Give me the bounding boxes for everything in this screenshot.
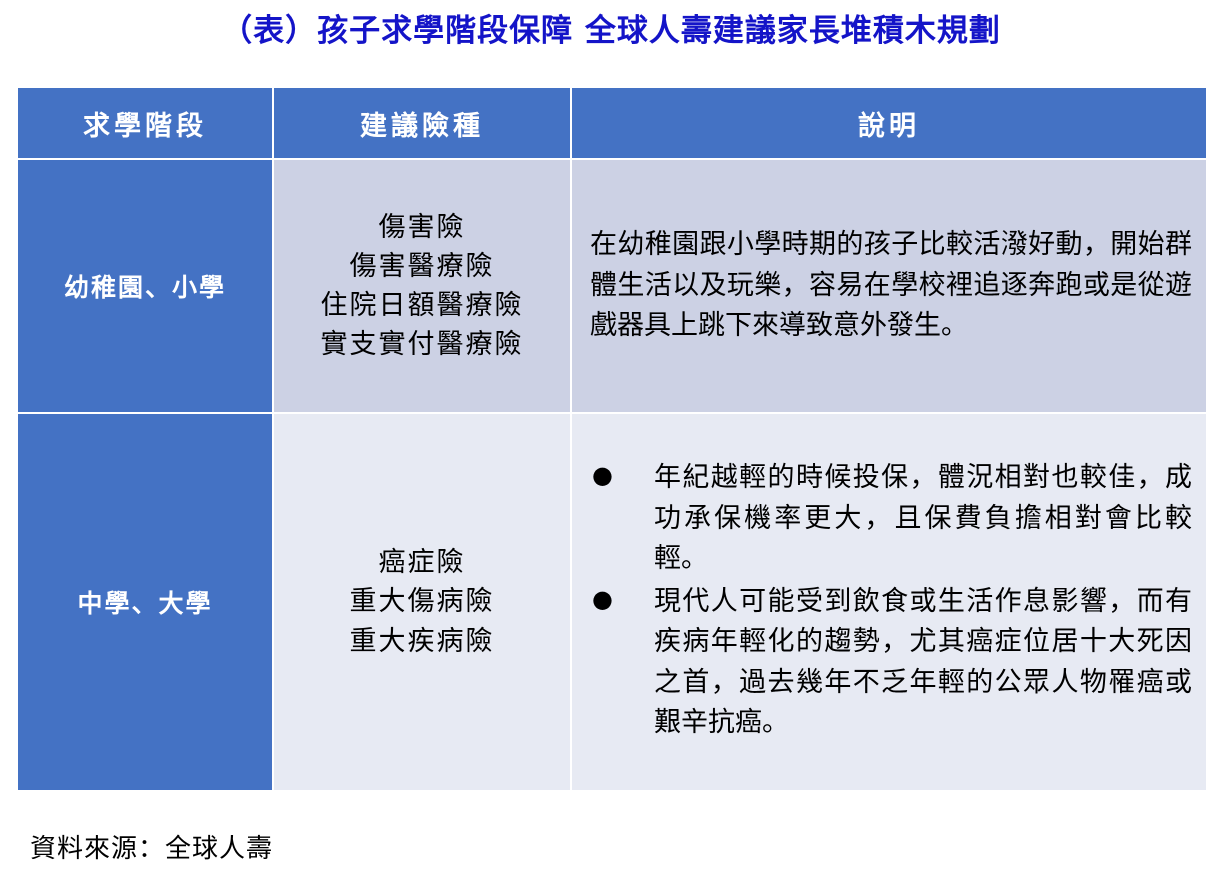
insurance-type-item: 實支實付醫療險	[274, 325, 570, 364]
bullet-icon: ●	[592, 581, 613, 617]
table-row: 幼稚園、小學 傷害險 傷害醫療險 住院日額醫療險 實支實付醫療險 在幼稚園跟小學…	[18, 160, 1206, 412]
table-header-row: 求學階段 建議險種 說明	[18, 88, 1206, 158]
description-paragraph: 在幼稚園跟小學時期的孩子比較活潑好動，開始群體生活以及玩樂，容易在學校裡追逐奔跑…	[590, 225, 1192, 347]
column-header-stage: 求學階段	[18, 88, 272, 158]
insurance-type-item: 傷害醫療險	[274, 247, 570, 286]
list-item-text: 年紀越輕的時候投保，體況相對也較佳，成功承保機率更大，且保費負擔相對會比較輕。	[654, 462, 1192, 574]
insurance-type-item: 重大疾病險	[274, 622, 570, 661]
insurance-type-item: 傷害險	[274, 208, 570, 247]
page-title: （表）孩子求學階段保障 全球人壽建議家長堆積木規劃	[0, 12, 1222, 51]
description-bullet-list: ● 年紀越輕的時候投保，體況相對也較佳，成功承保機率更大，且保費負擔相對會比較輕…	[590, 458, 1192, 744]
column-header-description: 說明	[572, 88, 1206, 158]
stage-cell-kindergarten-elementary: 幼稚園、小學	[18, 160, 272, 412]
list-item: ● 年紀越輕的時候投保，體況相對也較佳，成功承保機率更大，且保費負擔相對會比較輕…	[590, 458, 1192, 580]
insurance-type-cell-middle-university: 癌症險 重大傷病險 重大疾病險	[274, 414, 570, 790]
bullet-icon: ●	[592, 457, 613, 493]
insurance-type-cell-kindergarten-elementary: 傷害險 傷害醫療險 住院日額醫療險 實支實付醫療險	[274, 160, 570, 412]
table-row: 中學、大學 癌症險 重大傷病險 重大疾病險 ● 年紀越輕的時候投保，體況相對也較…	[18, 414, 1206, 790]
insurance-type-item: 癌症險	[274, 543, 570, 582]
insurance-recommendation-table: 求學階段 建議險種 說明 幼稚園、小學 傷害險 傷害醫療險 住院日額醫療險 實支…	[16, 86, 1208, 792]
description-cell-kindergarten-elementary: 在幼稚園跟小學時期的孩子比較活潑好動，開始群體生活以及玩樂，容易在學校裡追逐奔跑…	[572, 160, 1206, 412]
table-body: 幼稚園、小學 傷害險 傷害醫療險 住院日額醫療險 實支實付醫療險 在幼稚園跟小學…	[18, 160, 1206, 790]
stage-cell-middle-university: 中學、大學	[18, 414, 272, 790]
insurance-type-item: 重大傷病險	[274, 582, 570, 621]
list-item: ● 現代人可能受到飲食或生活作息影響，而有疾病年輕化的趨勢，尤其癌症位居十大死因…	[590, 582, 1192, 744]
list-item-text: 現代人可能受到飲食或生活作息影響，而有疾病年輕化的趨勢，尤其癌症位居十大死因之首…	[654, 586, 1192, 739]
source-note: 資料來源：全球人壽	[30, 828, 273, 865]
insurance-type-item: 住院日額醫療險	[274, 286, 570, 325]
column-header-insurance-type: 建議險種	[274, 88, 570, 158]
table-header: 求學階段 建議險種 說明	[18, 88, 1206, 158]
description-cell-middle-university: ● 年紀越輕的時候投保，體況相對也較佳，成功承保機率更大，且保費負擔相對會比較輕…	[572, 414, 1206, 790]
